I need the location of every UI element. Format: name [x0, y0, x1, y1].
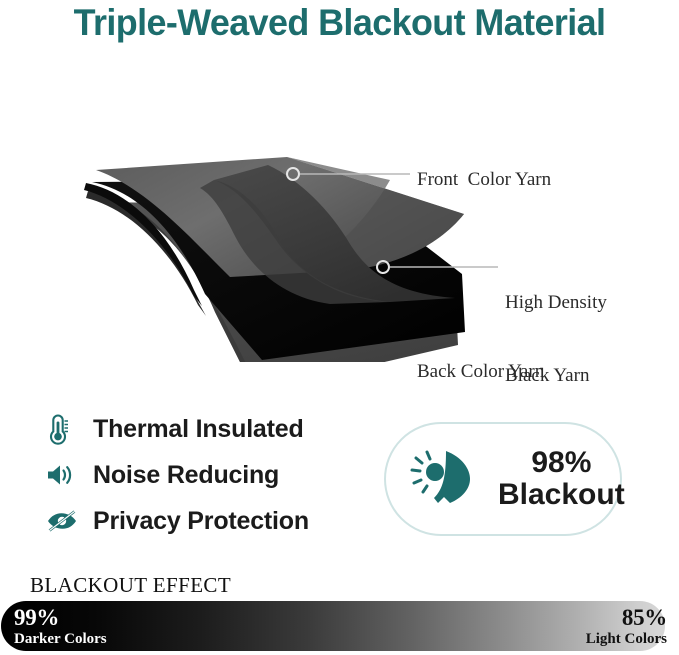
callout-label-back: Back Color Yarn	[417, 360, 544, 384]
callout-label-front: Front Color Yarn	[417, 168, 551, 192]
sun-curtain-icon	[410, 445, 482, 514]
infographic-root: Triple-Weaved Blackout Material	[0, 0, 679, 655]
eye-slash-icon	[45, 504, 87, 538]
blackout-effect-heading: BLACKOUT EFFECT	[30, 573, 231, 598]
blackout-effect-right-stat: 85% Light Colors	[447, 601, 667, 651]
blackout-word: Blackout	[498, 479, 625, 511]
right-caption: Light Colors	[586, 632, 667, 647]
feature-label-noise-reducing: Noise Reducing	[93, 461, 279, 490]
blackout-percent: 98%	[498, 447, 625, 479]
feature-label-thermal-insulated: Thermal Insulated	[93, 415, 304, 444]
callout-label-high-density-line1: High Density	[505, 291, 607, 315]
thermometer-icon	[45, 412, 87, 446]
left-percent: 99%	[14, 606, 194, 629]
feature-item-privacy-protection: Privacy Protection	[45, 498, 375, 544]
speaker-sound-icon	[45, 458, 87, 492]
left-caption: Darker Colors	[14, 632, 194, 647]
feature-item-thermal-insulated: Thermal Insulated	[45, 406, 375, 452]
right-percent: 85%	[622, 606, 667, 629]
blackout-effect-left-stat: 99% Darker Colors	[14, 601, 194, 651]
blackout-badge: 98% Blackout	[384, 422, 622, 536]
page-title: Triple-Weaved Blackout Material	[10, 2, 669, 44]
blackout-badge-text: 98% Blackout	[498, 447, 637, 511]
feature-label-privacy-protection: Privacy Protection	[93, 507, 309, 536]
fabric-layers-diagram: Front Color Yarn High Density Black Yarn…	[0, 62, 679, 362]
callout-label-high-density: High Density Black Yarn	[505, 242, 607, 437]
feature-list: Thermal Insulated Noise Reducing	[45, 406, 375, 544]
feature-item-noise-reducing: Noise Reducing	[45, 452, 375, 498]
